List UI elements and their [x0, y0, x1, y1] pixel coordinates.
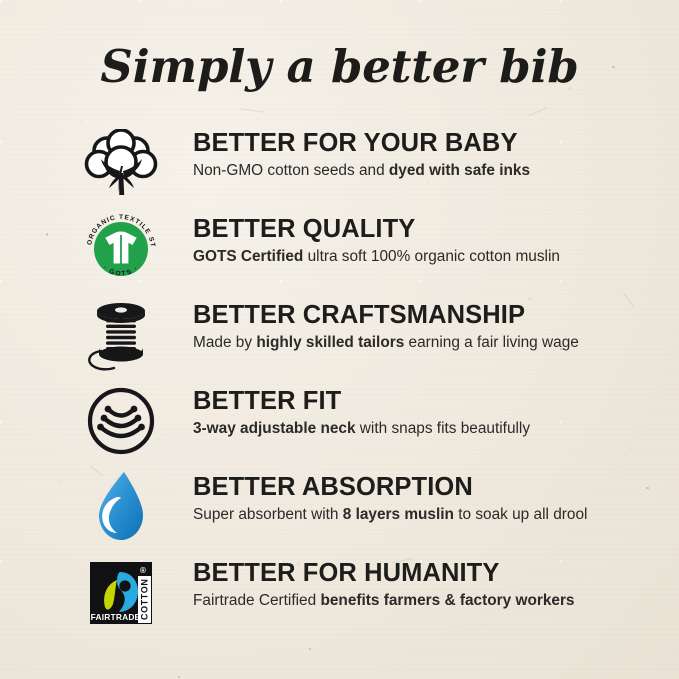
feature-text: BETTER ABSORPTION Super absorbent with 8… — [193, 472, 618, 526]
sub-plain-lead: Non-GMO cotton seeds and — [193, 162, 389, 179]
feature-subtitle: Made by highly skilled tailors earning a… — [193, 332, 618, 354]
gots-ring-text-bottom: · GOTS · — [102, 265, 141, 278]
feature-row-better-absorption: BETTER ABSORPTION Super absorbent with 8… — [78, 470, 618, 544]
sub-bold: highly skilled tailors — [256, 334, 404, 351]
feature-subtitle: Fairtrade Certified benefits farmers & f… — [193, 590, 618, 612]
feature-subtitle: 3-way adjustable neck with snaps fits be… — [193, 418, 618, 440]
sub-plain-tail: to soak up all drool — [454, 506, 587, 523]
feature-subtitle: GOTS Certified ultra soft 100% organic c… — [193, 246, 618, 268]
registered-mark-icon: ® — [140, 566, 146, 575]
sub-bold: 3-way adjustable neck — [193, 420, 356, 437]
sub-plain-tail: earning a fair living wage — [404, 334, 579, 351]
sub-plain-tail: with snaps fits beautifully — [356, 420, 531, 437]
feature-text: BETTER FIT 3-way adjustable neck with sn… — [193, 386, 618, 440]
feature-subtitle: Super absorbent with 8 layers muslin to … — [193, 504, 618, 526]
sub-plain-lead: Made by — [193, 334, 256, 351]
poster-sheet: Simply a better bib — [0, 0, 679, 679]
fairtrade-eye — [119, 580, 130, 591]
fairtrade-cotton-icon: FAIRTRADE ® COTTON — [78, 556, 164, 630]
sub-plain-tail: ultra soft 100% organic cotton muslin — [303, 248, 560, 265]
sub-plain-lead: Super absorbent with — [193, 506, 343, 523]
paper-speck — [309, 648, 311, 650]
feature-heading: BETTER FIT — [193, 386, 618, 416]
feature-row-better-for-humanity: FAIRTRADE ® COTTON BETTER FOR HUMANITY F… — [78, 556, 618, 630]
sub-bold: dyed with safe inks — [389, 162, 530, 179]
sub-plain-lead: Fairtrade Certified — [193, 592, 320, 609]
feature-text: BETTER FOR HUMANITY Fairtrade Certified … — [193, 558, 618, 612]
paper-fiber — [623, 293, 634, 308]
feature-heading: BETTER FOR HUMANITY — [193, 558, 618, 588]
feature-row-better-for-your-baby: BETTER FOR YOUR BABY Non-GMO cotton seed… — [78, 126, 618, 200]
fairtrade-wordmark: FAIRTRADE — [91, 612, 141, 622]
gots-certified-icon: GLOBAL ORGANIC TEXTILE STANDARD · GOTS · — [78, 212, 164, 286]
feature-heading: BETTER QUALITY — [193, 214, 618, 244]
cotton-boll-icon — [78, 126, 164, 200]
feature-heading: BETTER ABSORPTION — [193, 472, 618, 502]
feature-heading: BETTER CRAFTSMANSHIP — [193, 300, 618, 330]
feature-text: BETTER CRAFTSMANSHIP Made by highly skil… — [193, 300, 618, 354]
water-droplet-icon — [78, 470, 164, 544]
fairtrade-product-label: COTTON — [140, 579, 150, 620]
feature-subtitle: Non-GMO cotton seeds and dyed with safe … — [193, 160, 618, 182]
paper-fiber — [240, 108, 265, 112]
feature-row-better-quality: GLOBAL ORGANIC TEXTILE STANDARD · GOTS ·… — [78, 212, 618, 286]
paper-fiber — [529, 107, 548, 116]
sub-bold: benefits farmers & factory workers — [320, 592, 574, 609]
feature-text: BETTER QUALITY GOTS Certified ultra soft… — [193, 214, 618, 268]
feature-row-better-craftsmanship: BETTER CRAFTSMANSHIP Made by highly skil… — [78, 298, 618, 372]
paper-speck — [646, 487, 649, 489]
thread-spool-icon — [78, 298, 164, 372]
sub-bold: 8 layers muslin — [343, 506, 454, 523]
sub-bold: GOTS Certified — [193, 248, 303, 265]
page-title: Simply a better bib — [0, 40, 679, 93]
feature-row-better-fit: BETTER FIT 3-way adjustable neck with sn… — [78, 384, 618, 458]
feature-text: BETTER FOR YOUR BABY Non-GMO cotton seed… — [193, 128, 618, 182]
feature-heading: BETTER FOR YOUR BABY — [193, 128, 618, 158]
adjustable-snaps-icon — [78, 384, 164, 458]
paper-speck — [46, 233, 48, 236]
paper-speck — [178, 676, 180, 678]
